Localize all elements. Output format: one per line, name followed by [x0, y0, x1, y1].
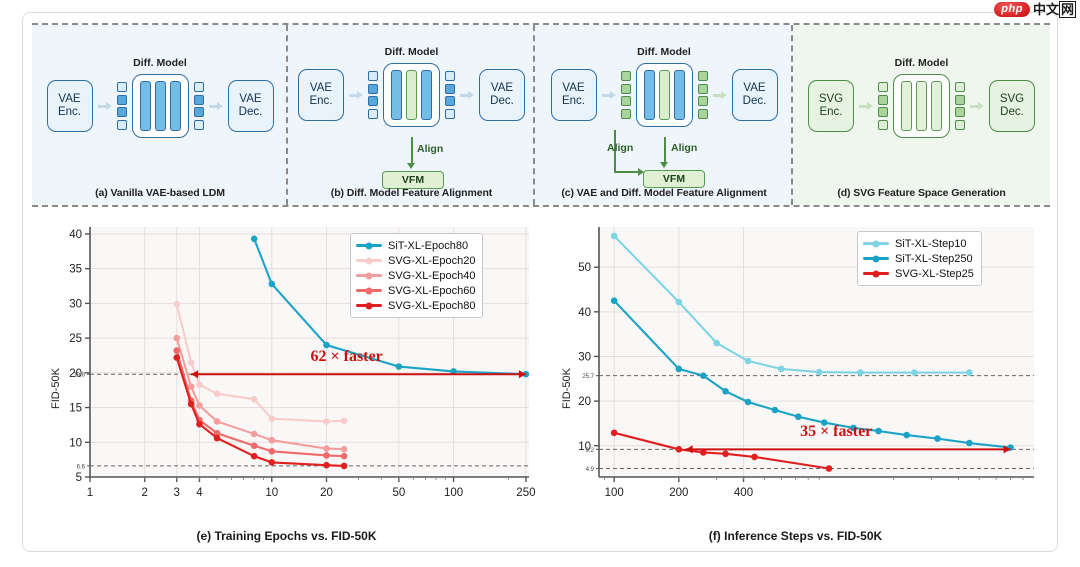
decoder-label-line1: VAE	[239, 93, 261, 106]
panel-c-flow: VAE Enc. Diff. Model VA	[535, 45, 793, 145]
diagram-panel-c: VAE Enc. Diff. Model VA	[535, 25, 793, 205]
plots-row: FID-50K 51015202530354019.86.61234102050…	[32, 209, 1050, 545]
latent-tokens-c-left	[621, 71, 631, 119]
svg-text:250: 250	[516, 487, 535, 499]
svg-text:25.7: 25.7	[582, 374, 594, 380]
chart-f-annotation: 35 × faster	[800, 423, 872, 441]
chart-e-caption: (e) Training Epochs vs. FID-50K	[32, 529, 541, 543]
diagram-panel-a: VAE Enc. Diff. Model VA	[32, 25, 288, 205]
legend-label: SVG-XL-Step25	[895, 268, 974, 280]
align-arrow-icon-right	[660, 162, 668, 168]
svg-encoder-box-d: SVG Enc.	[808, 80, 854, 132]
vae-decoder-box-b: VAE Dec.	[479, 69, 525, 121]
panel-c-caption: (c) VAE and Diff. Model Feature Alignmen…	[535, 187, 793, 199]
chart-f-legend: SiT-XL-Step10SiT-XL-Step250SVG-XL-Step25	[857, 231, 982, 286]
diff-model-label: Diff. Model	[132, 57, 189, 69]
svg-text:20: 20	[578, 396, 591, 408]
decoder-label-line1: VAE	[491, 82, 513, 95]
watermark-cn-a: 中文	[1033, 2, 1059, 17]
svg-text:10: 10	[265, 487, 278, 499]
svg-decoder-box-d: SVG Dec.	[989, 80, 1035, 132]
legend-swatch	[356, 259, 382, 262]
legend-swatch	[356, 304, 382, 307]
svg-text:10: 10	[69, 437, 82, 449]
latent-tokens-b-left	[368, 71, 378, 119]
legend-swatch	[356, 244, 382, 247]
svg-text:2: 2	[142, 487, 148, 499]
diagram-panel-d: SVG Enc. Diff. Model SV	[793, 25, 1050, 205]
legend-swatch	[863, 272, 889, 275]
latent-tokens-b-right	[445, 71, 455, 119]
vfm-box-c: VFM	[643, 170, 705, 188]
legend-label: SiT-XL-Epoch80	[388, 240, 468, 252]
svg-text:50: 50	[578, 262, 591, 274]
legend-label: SVG-XL-Epoch60	[388, 285, 475, 297]
legend-item: SiT-XL-Step10	[863, 236, 974, 251]
encoder-label-line1: SVG	[819, 93, 843, 106]
decoder-label-line1: SVG	[1000, 93, 1024, 106]
decoder-label-line2: Dec.	[239, 106, 263, 119]
svg-text:30: 30	[69, 298, 82, 310]
legend-label: SVG-XL-Epoch40	[388, 270, 475, 282]
legend-swatch	[863, 257, 889, 260]
flow-arrow-icon	[859, 102, 873, 110]
svg-text:4: 4	[196, 487, 203, 499]
align-connector-line	[411, 137, 413, 165]
chart-f: FID-50K 102030405025.79.24.91002004001M3…	[541, 209, 1050, 545]
svg-text:3: 3	[174, 487, 180, 499]
diagram-bottom-divider	[32, 205, 1050, 207]
panel-a-flow: VAE Enc. Diff. Model VA	[32, 51, 288, 161]
chart-f-caption: (f) Inference Steps vs. FID-50K	[541, 529, 1050, 543]
svg-text:40: 40	[69, 229, 82, 241]
svg-text:50: 50	[392, 487, 405, 499]
flow-arrow-icon	[98, 102, 112, 110]
architecture-diagram: VAE Enc. Diff. Model VA	[32, 25, 1050, 205]
svg-text:20: 20	[320, 487, 333, 499]
legend-swatch	[863, 242, 889, 245]
flow-arrow-icon	[602, 91, 616, 99]
svg-text:25: 25	[69, 333, 82, 345]
vae-decoder-box-c: VAE Dec.	[732, 69, 778, 121]
flow-arrow-icon	[349, 91, 363, 99]
legend-item: SVG-XL-Epoch80	[356, 298, 475, 313]
encoder-label-line2: Enc.	[58, 106, 81, 119]
figure-frame: VAE Enc. Diff. Model VA	[22, 12, 1058, 552]
decoder-label-line2: Dec.	[1000, 106, 1024, 119]
decoder-label-line2: Dec.	[743, 95, 767, 108]
decoder-label-line1: VAE	[743, 82, 765, 95]
svg-text:9.2: 9.2	[586, 448, 595, 454]
vae-decoder-box-a: VAE Dec.	[228, 80, 274, 132]
chart-f-ylabel: FID-50K	[561, 368, 573, 409]
align-arrow-icon	[407, 163, 415, 169]
panel-d-caption: (d) SVG Feature Space Generation	[793, 187, 1050, 199]
legend-item: SiT-XL-Step250	[863, 251, 974, 266]
vae-encoder-box-b: VAE Enc.	[298, 69, 344, 121]
latent-tokens-c-right	[698, 71, 708, 119]
encoder-label-line2: Enc.	[819, 106, 842, 119]
legend-swatch	[356, 274, 382, 277]
legend-item: SiT-XL-Epoch80	[356, 238, 475, 253]
diff-model-box	[132, 74, 189, 138]
vae-encoder-box-c: VAE Enc.	[551, 69, 597, 121]
svg-text:200: 200	[669, 487, 688, 499]
svg-text:1: 1	[87, 487, 93, 499]
flow-arrow-icon	[209, 102, 223, 110]
panel-b-flow: VAE Enc. Diff. Model VA	[288, 45, 535, 145]
legend-item: SVG-XL-Epoch20	[356, 253, 475, 268]
legend-label: SiT-XL-Step10	[895, 238, 967, 250]
legend-label: SiT-XL-Step250	[895, 253, 973, 265]
latent-tokens-a-left	[117, 82, 127, 130]
svg-text:40: 40	[578, 307, 591, 319]
chart-e: FID-50K 51015202530354019.86.61234102050…	[32, 209, 541, 545]
svg-text:100: 100	[444, 487, 463, 499]
svg-text:4.9: 4.9	[586, 467, 595, 473]
svg-text:19.8: 19.8	[73, 373, 85, 379]
vae-encoder-box-a: VAE Enc.	[47, 80, 93, 132]
diagram-panel-b: VAE Enc. Diff. Model VA	[288, 25, 535, 205]
latent-tokens-a-right	[194, 82, 204, 130]
latent-tokens-d-right	[955, 82, 965, 130]
watermark-cn-b: 网	[1059, 1, 1076, 18]
diff-model-b: Diff. Model	[383, 63, 440, 127]
align-label-c-left: Align	[607, 142, 633, 154]
chart-e-ylabel: FID-50K	[50, 368, 62, 409]
diff-model-box	[636, 63, 693, 127]
svg-text:5: 5	[76, 472, 82, 484]
encoder-label-line1: VAE	[562, 82, 584, 95]
legend-item: SVG-XL-Epoch60	[356, 283, 475, 298]
encoder-label-line2: Enc.	[562, 95, 585, 108]
legend-label: SVG-XL-Epoch20	[388, 255, 475, 267]
align-label-b: Align	[417, 143, 443, 155]
legend-item: SVG-XL-Epoch40	[356, 268, 475, 283]
watermark: php 中文网	[994, 2, 1076, 17]
chart-e-legend: SiT-XL-Epoch80SVG-XL-Epoch20SVG-XL-Epoch…	[350, 233, 483, 318]
svg-text:30: 30	[578, 351, 591, 363]
align-connector-line-left-h	[614, 171, 640, 173]
flow-arrow-icon	[460, 91, 474, 99]
legend-label: SVG-XL-Epoch80	[388, 300, 475, 312]
svg-text:15: 15	[69, 403, 82, 415]
align-connector-line-right	[664, 137, 666, 164]
panel-d-flow: SVG Enc. Diff. Model SV	[793, 51, 1050, 161]
svg-text:35: 35	[69, 264, 82, 276]
diff-model-label: Diff. Model	[636, 46, 693, 58]
panel-b-caption: (b) Diff. Model Feature Alignment	[288, 187, 535, 199]
svg-text:400: 400	[734, 487, 753, 499]
decoder-label-line2: Dec.	[490, 95, 514, 108]
diff-model-box	[893, 74, 950, 138]
encoder-label-line1: VAE	[58, 93, 80, 106]
diff-model-d: Diff. Model	[893, 74, 950, 138]
svg-text:6.6: 6.6	[77, 464, 86, 470]
encoder-label-line2: Enc.	[309, 95, 332, 108]
watermark-php-badge: php	[994, 2, 1030, 17]
encoder-label-line1: VAE	[310, 82, 332, 95]
diff-model-a: Diff. Model	[132, 74, 189, 138]
diff-model-label: Diff. Model	[383, 46, 440, 58]
diff-model-label: Diff. Model	[893, 57, 950, 69]
panel-a-caption: (a) Vanilla VAE-based LDM	[32, 187, 288, 199]
legend-item: SVG-XL-Step25	[863, 266, 974, 281]
latent-tokens-d-left	[878, 82, 888, 130]
flow-arrow-icon	[970, 102, 984, 110]
diff-model-c: Diff. Model	[636, 63, 693, 127]
chart-e-annotation: 62 × faster	[311, 348, 383, 366]
diff-model-box	[383, 63, 440, 127]
align-label-c-right: Align	[671, 142, 697, 154]
legend-swatch	[356, 289, 382, 292]
svg-text:100: 100	[605, 487, 624, 499]
watermark-cn-text: 中文网	[1033, 3, 1076, 17]
flow-arrow-icon	[713, 91, 727, 99]
